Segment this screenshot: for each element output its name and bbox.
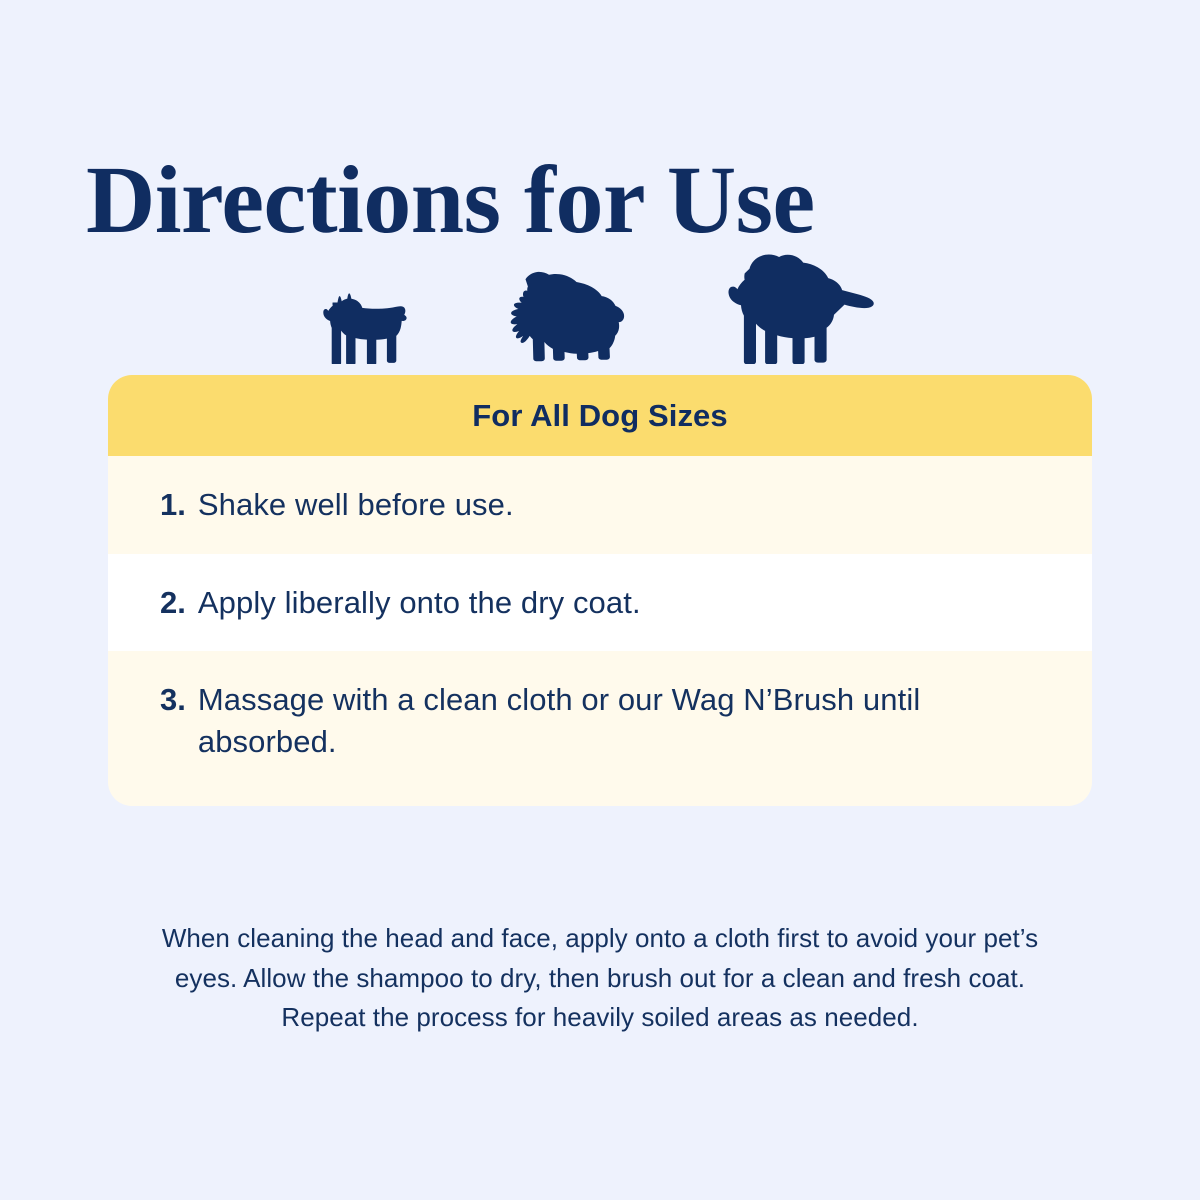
instruction-step-1: 1. Shake well before use. — [108, 456, 1092, 554]
step-number: 2. — [160, 582, 186, 624]
step-text: Shake well before use. — [198, 484, 514, 526]
step-number: 1. — [160, 484, 186, 526]
step-number: 3. — [160, 679, 186, 721]
page-title: Directions for Use — [86, 152, 1116, 248]
step-text: Massage with a clean cloth or our Wag N’… — [198, 679, 1040, 762]
dog-medium-icon — [501, 264, 629, 364]
directions-card: For All Dog Sizes 1. Shake well before u… — [108, 375, 1092, 806]
dog-small-icon — [321, 292, 409, 364]
card-header-for-all-dog-sizes: For All Dog Sizes — [108, 375, 1092, 456]
dog-large-icon — [721, 252, 879, 364]
instruction-step-3: 3. Massage with a clean cloth or our Wag… — [108, 651, 1092, 806]
dog-size-illustrations — [108, 238, 1092, 364]
footer-note: When cleaning the head and face, apply o… — [160, 919, 1040, 1038]
instruction-step-2: 2. Apply liberally onto the dry coat. — [108, 554, 1092, 652]
directions-for-use-page: Directions for Use For All Dog Sizes 1. … — [0, 0, 1200, 1200]
step-text: Apply liberally onto the dry coat. — [198, 582, 641, 624]
